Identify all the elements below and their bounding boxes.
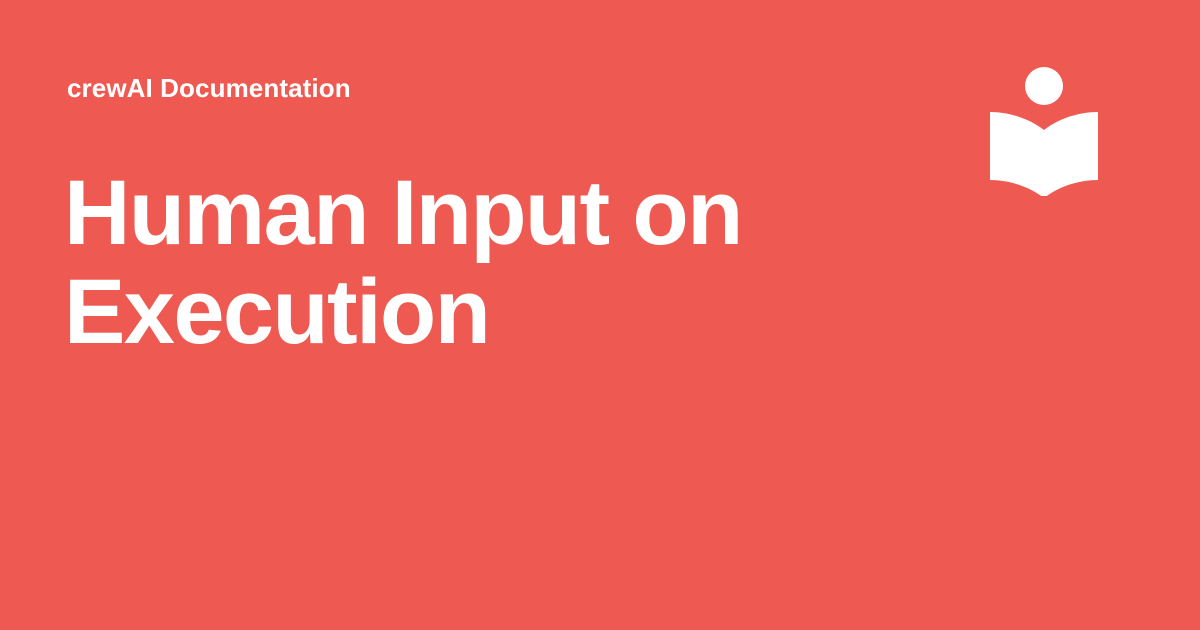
book-left-page [990,112,1044,196]
breadcrumb-eyebrow: crewAI Documentation [67,71,351,105]
book-right-page [1044,112,1098,196]
page-title-line-2: Execution [64,263,884,362]
page-title-line-1: Human Input on [64,164,884,263]
open-book-reader-icon [984,56,1104,196]
page-title: Human Input on Execution [64,164,884,362]
reader-head-circle [1025,67,1063,105]
og-card: crewAI Documentation Human Input on Exec… [0,0,1200,630]
